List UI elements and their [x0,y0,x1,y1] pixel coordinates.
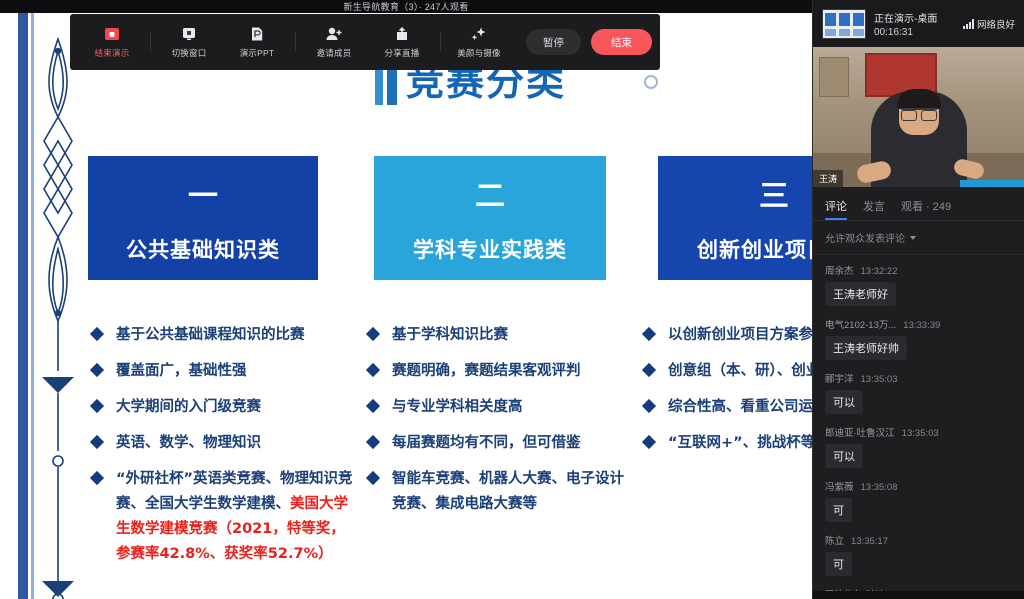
screen-thumbnail[interactable] [822,9,866,39]
tab-comments[interactable]: 评论 [825,198,847,220]
comment-meta: 陈立13:35:17 [825,533,1012,547]
category-numeral-2: 二 [374,182,606,212]
comment-item: 郦宇洋13:35:03 可以 [825,371,1012,414]
toolbar-label: 邀请成员 [317,47,352,59]
presentation-timer: 00:16:31 [874,27,955,38]
comment-text: 可 [825,498,852,522]
list-item: 英语、数学、物理知识 [92,431,354,456]
diamond-bullet-icon [642,399,656,413]
comment-time: 13:35:03 [902,428,939,439]
comment-author: 郎迪亚·吐鲁汉江 [825,425,895,439]
list-item: 覆盖面广，基础性强 [92,359,354,384]
toolbar-button-stop-presentation[interactable]: 结束演示 [78,14,146,70]
window-title-bar: 新生导航教育（3）· 247人观看 [0,0,812,13]
shared-screen-slide: 竞赛分类 一 公共基础知识类 二 学科专业实践类 三 创新创业项目类 基于公共基… [0,13,812,599]
list-item: 智能车竞赛、机器人大赛、电子设计竞赛、集成电路大赛等 [368,467,626,517]
signal-bars-icon [963,19,974,29]
comment-time: 13:32:22 [861,266,898,277]
toolbar-label: 演示PPT [240,47,275,59]
switch-window-icon [181,25,197,43]
right-panel: 正在演示-桌面 00:16:31 网络良好 王涛 评论 发言 [812,0,1024,599]
toolbar-label: 美颜与摄像 [457,47,501,59]
list-item: “互联网+”、挑战杯等 [644,431,812,456]
speaker-name-label: 王涛 [813,170,843,187]
comment-list[interactable]: 周余杰13:32:22 王涛老师好 电气2102-13万...13:33:39 … [813,255,1024,599]
list-item: 基于公共基础课程知识的比赛 [92,323,354,348]
network-status-label: 网络良好 [977,17,1015,31]
comment-time: 13:35:08 [861,482,898,493]
comment-meta: 电气2102-13万...13:33:39 [825,317,1012,331]
category-name-3: 创新创业项目类 [697,234,812,264]
video-person-glasses [901,108,937,117]
bullet-text: 创意组（本、研）、创业组等命题； [668,359,812,384]
comment-item: 电气2102-13万...13:33:39 王涛老师好帅 [825,317,1012,360]
category-box-3: 三 创新创业项目类 [658,156,812,280]
diamond-bullet-icon [366,327,380,341]
bullet-text: 综合性高、看重公司运营 [668,395,812,420]
comment-meta: 冯紫薇13:35:08 [825,479,1012,493]
list-item: “外研社杯”英语类竞赛、物理知识竞赛、全国大学生数学建模、美国大学生数学建模竞赛… [92,467,354,567]
diamond-bullet-icon [366,471,380,485]
bullet-text: “互联网+”、挑战杯等 [668,431,812,456]
list-item: 基于学科知识比赛 [368,323,626,348]
presentation-status-bar: 正在演示-桌面 00:16:31 网络良好 [813,0,1024,47]
video-person-hair [897,89,941,109]
bullet-text: 每届赛题均有不同，但可借鉴 [392,431,581,456]
bullet-text: 大学期间的入门级竞赛 [116,395,261,420]
comment-text: 可 [825,552,852,576]
comment-item: 郎迪亚·吐鲁汉江13:35:03 可以 [825,425,1012,468]
list-item: 与专业学科相关度高 [368,395,626,420]
end-button[interactable]: 结束 [591,29,652,55]
presenter-toolbar: 结束演示 切换窗口 演示PPT 邀请成员 分享直播 [70,14,660,70]
category-numeral-1: 一 [88,182,318,212]
category-name-2: 学科专业实践类 [413,234,567,264]
bullet-column-3: 以创新创业项目方案参赛 创意组（本、研）、创业组等命题； 综合性高、看重公司运营… [644,323,812,467]
diamond-bullet-icon [90,399,104,413]
slide-left-band [18,13,28,599]
allow-comments-dropdown[interactable]: 允许观众发表评论 [813,221,1024,255]
tab-speak[interactable]: 发言 [863,198,885,220]
beauty-camera-icon [470,25,488,43]
diamond-bullet-icon [366,363,380,377]
diamond-bullet-icon [90,471,104,485]
diamond-bullet-icon [90,327,104,341]
present-ppt-icon [249,25,265,43]
toolbar-divider [440,32,441,52]
comment-text: 王涛老师好帅 [825,336,907,360]
list-item: 创意组（本、研）、创业组等命题； [644,359,812,384]
network-status: 网络良好 [963,17,1015,31]
comment-meta: 郦宇洋13:35:03 [825,371,1012,385]
bullet-text: 赛题明确，赛题结果客观评判 [392,359,581,384]
comment-author: 陈立 [825,533,844,547]
comment-time: 13:35:03 [861,374,898,385]
comment-text: 王涛老师好 [825,282,896,306]
invite-member-icon [325,25,343,43]
comment-item: 冯紫薇13:35:08 可 [825,479,1012,522]
diamond-bullet-icon [642,363,656,377]
pause-button[interactable]: 暂停 [526,29,581,55]
panel-bottom-bar [813,591,1024,599]
list-item: 综合性高、看重公司运营 [644,395,812,420]
comment-time: 13:33:39 [903,320,940,331]
tab-viewers[interactable]: 观看 · 249 [901,198,951,220]
bullet-text: 基于学科知识比赛 [392,323,508,348]
diamond-bullet-icon [90,363,104,377]
panel-tabs: 评论 发言 观看 · 249 [813,187,1024,221]
share-live-icon [394,25,410,43]
app-window: 新生导航教育（3）· 247人观看 [0,0,1024,599]
category-box-1: 一 公共基础知识类 [88,156,318,280]
video-poster-decor-2 [819,57,849,97]
toolbar-button-beauty-camera[interactable]: 美颜与摄像 [445,14,513,70]
toolbar-button-invite-member[interactable]: 邀请成员 [300,14,368,70]
bullet-text: 基于公共基础课程知识的比赛 [116,323,305,348]
toolbar-button-share-live[interactable]: 分享直播 [368,14,436,70]
bullet-text: 智能车竞赛、机器人大赛、电子设计竞赛、集成电路大赛等 [392,467,626,517]
comment-item: 周余杰13:32:22 王涛老师好 [825,263,1012,306]
presentation-status-text: 正在演示-桌面 00:16:31 [874,10,955,38]
diamond-bullet-icon [366,435,380,449]
comment-author: 郦宇洋 [825,371,854,385]
bullet-column-2: 基于学科知识比赛 赛题明确，赛题结果客观评判 与专业学科相关度高 每届赛题均有不… [368,323,626,528]
list-item: 赛题明确，赛题结果客观评判 [368,359,626,384]
presentation-status-title: 正在演示-桌面 [874,10,955,25]
bullet-text: 英语、数学、物理知识 [116,431,261,456]
toolbar-button-switch-window[interactable]: 切换窗口 [155,14,223,70]
allow-comments-label: 允许观众发表评论 [825,230,905,245]
list-item: 每届赛题均有不同，但可借鉴 [368,431,626,456]
comment-author: 周余杰 [825,263,854,277]
video-bottom-strip [960,180,1024,187]
comment-text: 可以 [825,444,863,468]
category-box-2: 二 学科专业实践类 [374,156,606,280]
chevron-down-icon [910,236,916,240]
stop-presentation-icon [104,25,120,43]
bullet-text: 覆盖面广，基础性强 [116,359,247,384]
comment-text: 可以 [825,390,863,414]
diamond-bullet-icon [90,435,104,449]
diamond-bullet-icon [366,399,380,413]
comment-item: 陈立13:35:17 可 [825,533,1012,576]
category-name-1: 公共基础知识类 [126,234,280,264]
bullet-column-1: 基于公共基础课程知识的比赛 覆盖面广，基础性强 大学期间的入门级竞赛 英语、数学… [92,323,354,578]
bullet-text: “外研社杯”英语类竞赛、物理知识竞赛、全国大学生数学建模、美国大学生数学建模竞赛… [116,467,354,567]
bullet-text: 与专业学科相关度高 [392,395,523,420]
toolbar-label: 分享直播 [385,47,420,59]
comment-meta: 郎迪亚·吐鲁汉江13:35:03 [825,425,1012,439]
diamond-bullet-icon [642,327,656,341]
window-title: 新生导航教育（3）· 247人观看 [343,0,468,13]
toolbar-button-present-ppt[interactable]: 演示PPT [223,14,291,70]
comment-meta: 周余杰13:32:22 [825,263,1012,277]
decorative-ornament-icon [36,21,80,599]
toolbar-label: 切换窗口 [172,47,207,59]
toolbar-label: 结束演示 [95,47,130,59]
category-numeral-3: 三 [658,182,812,212]
list-item: 以创新创业项目方案参赛 [644,323,812,348]
list-item: 大学期间的入门级竞赛 [92,395,354,420]
speaker-video-tile[interactable]: 王涛 [813,47,1024,187]
slide-left-thin-band [31,13,34,599]
diamond-bullet-icon [642,435,656,449]
comment-time: 13:35:17 [851,536,888,547]
toolbar-divider [150,32,151,52]
comment-author: 冯紫薇 [825,479,854,493]
comment-author: 电气2102-13万... [825,317,896,331]
title-circle-decoration [644,75,658,89]
toolbar-divider [295,32,296,52]
bullet-text: 以创新创业项目方案参赛 [668,323,812,348]
